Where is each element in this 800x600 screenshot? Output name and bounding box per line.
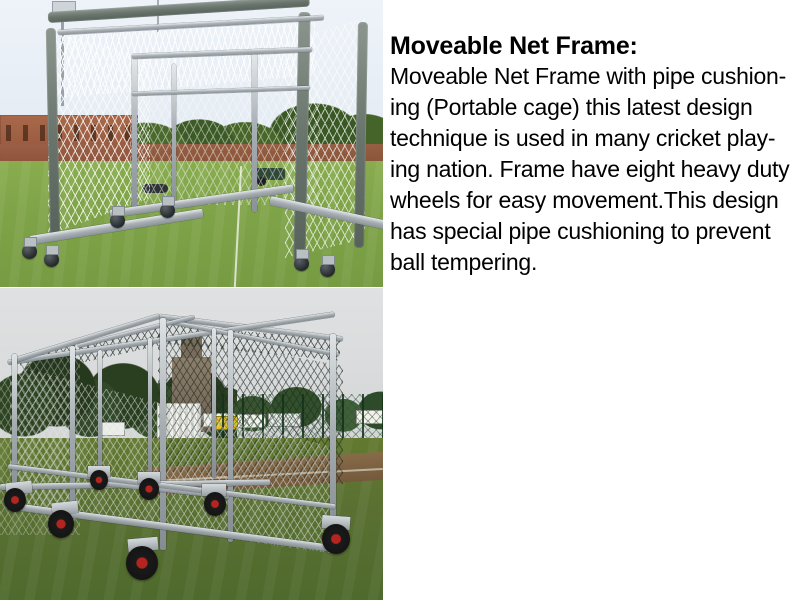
castor-wheel [320, 262, 335, 277]
castor-wheel [22, 244, 37, 259]
upright-near-3 [160, 318, 166, 550]
inner-left-upright [132, 56, 137, 211]
product-title: Moveable Net Frame: [390, 31, 796, 61]
description-column: Moveable Net Frame: Moveable Net Frame w… [383, 0, 800, 600]
upright-near-5 [330, 334, 336, 542]
pneumatic-wheel [204, 492, 226, 516]
castor-wheel [160, 203, 175, 218]
moveable-net-frame-overcast-photo [0, 288, 383, 600]
product-description: Moveable Net Frame with pipe cushion- in… [390, 61, 796, 278]
pneumatic-wheel [126, 546, 158, 580]
castor-wheel [294, 256, 309, 271]
moveable-net-frame-sunny-photo [0, 0, 383, 287]
product-info-page: Moveable Net Frame: Moveable Net Frame w… [0, 0, 800, 600]
upright-near-2 [70, 346, 75, 521]
product-photo-column [0, 0, 383, 600]
upright-far-1 [98, 350, 102, 476]
castor-wheel [110, 213, 125, 228]
upright-far-3 [212, 328, 216, 478]
inner-mid-upright [172, 64, 176, 204]
pneumatic-wheel [322, 524, 350, 554]
upright-far-2 [148, 338, 152, 476]
pneumatic-wheel [48, 510, 74, 538]
pneumatic-wheel [139, 478, 159, 500]
sunny-ground-scene [0, 0, 383, 287]
portable-net-cage [0, 0, 383, 287]
overcast-ground-scene [0, 288, 383, 600]
pneumatic-wheel [4, 488, 26, 512]
inner-right-upright [252, 52, 257, 212]
description-copy: Moveable Net Frame: Moveable Net Frame w… [390, 31, 796, 278]
upright-near-1 [12, 354, 17, 502]
upright-near-4 [228, 330, 233, 542]
castor-wheel [44, 252, 59, 267]
pneumatic-wheel [90, 470, 108, 490]
